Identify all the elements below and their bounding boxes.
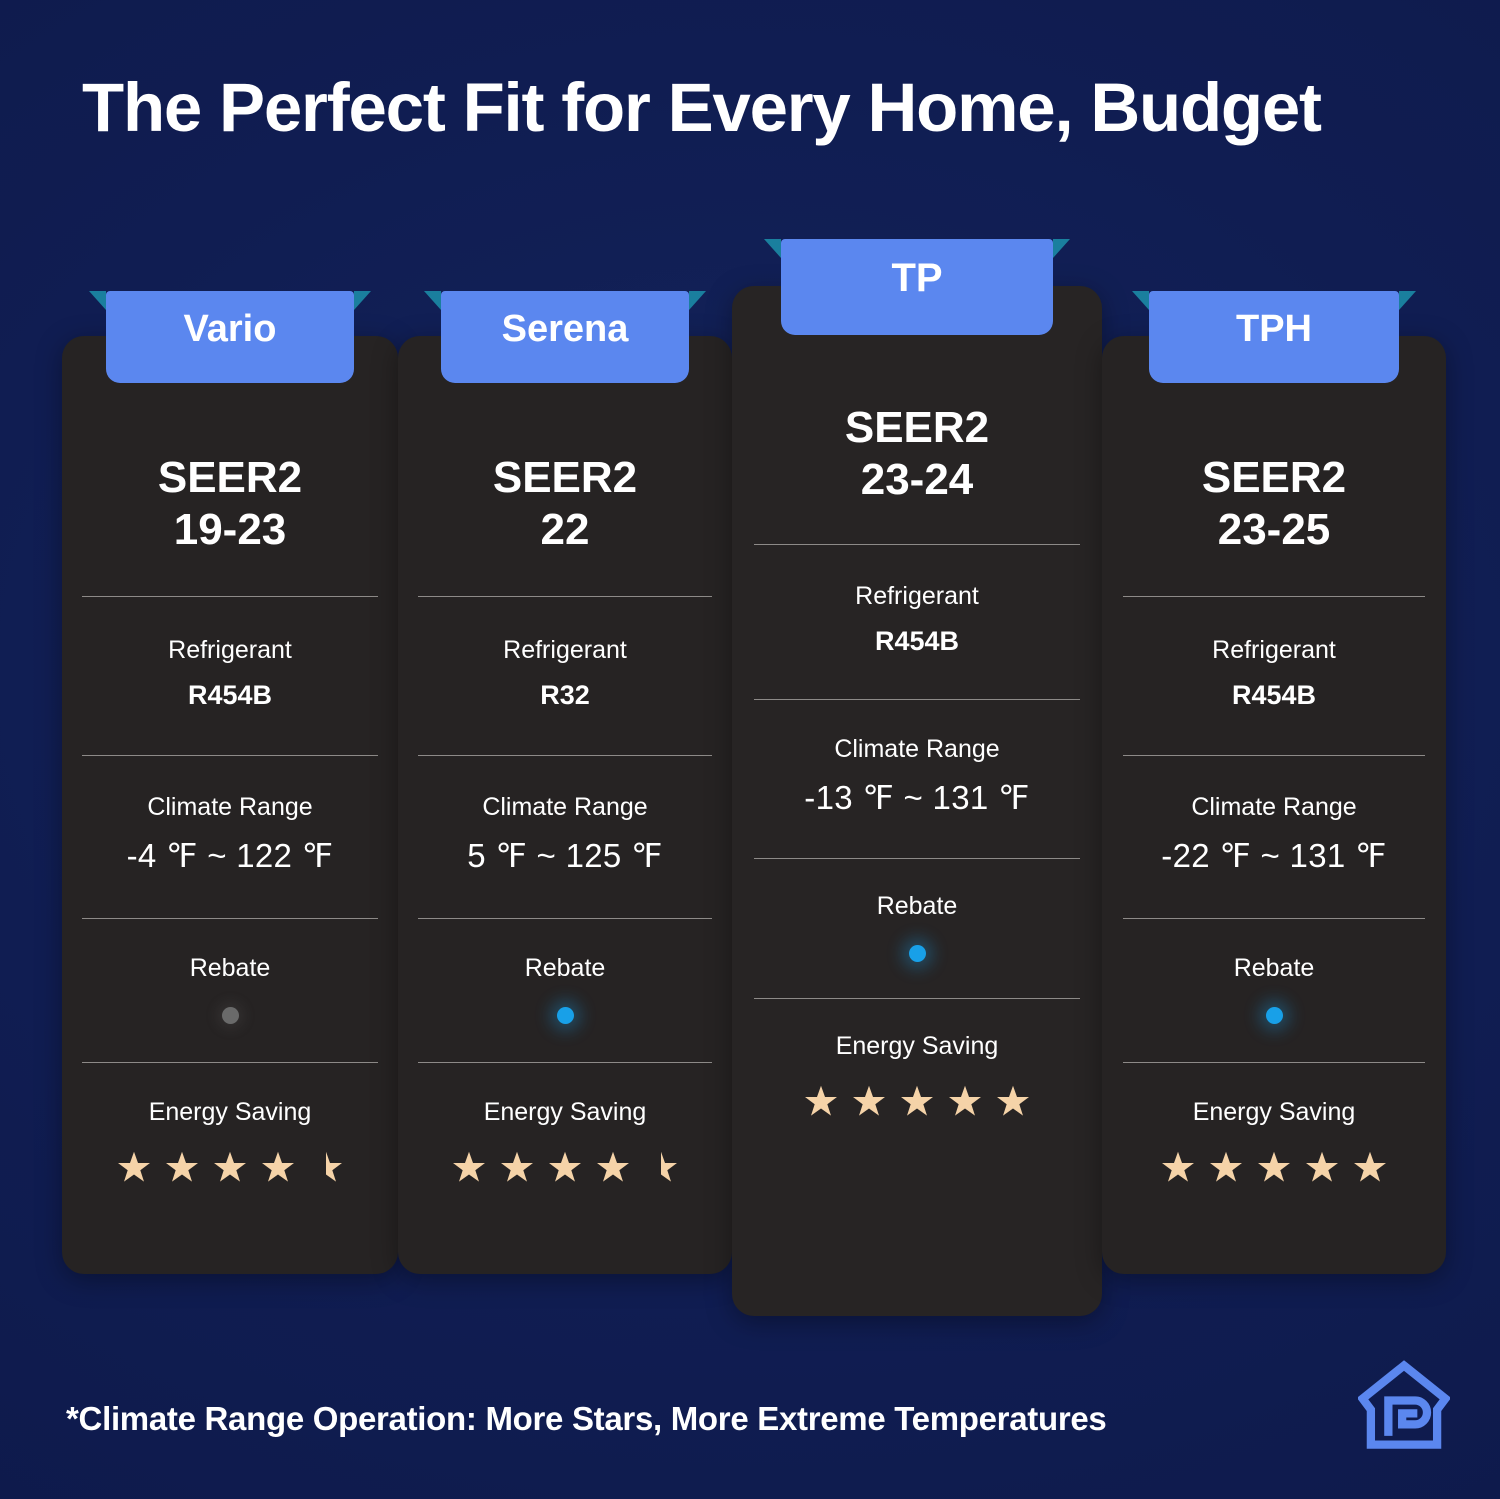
seer-value: 19-23 <box>62 504 398 556</box>
star-icon-full <box>165 1150 199 1184</box>
climate-range-value: -22 ℉ ~ 131 ℉ <box>1102 835 1446 878</box>
divider <box>754 858 1080 859</box>
divider <box>754 699 1080 700</box>
rebate-status-indicator <box>222 1007 239 1024</box>
divider <box>82 918 378 919</box>
climate-range-label: Climate Range <box>398 792 732 823</box>
refrigerant-row: RefrigerantR454B <box>62 635 398 713</box>
climate-range-label: Climate Range <box>732 734 1102 765</box>
rebate-status-indicator <box>1266 1007 1283 1024</box>
ribbon-fold-left-icon <box>1132 291 1149 310</box>
climate-range-value: 5 ℉ ~ 125 ℉ <box>398 835 732 878</box>
climate-range-row: Climate Range5 ℉ ~ 125 ℉ <box>398 792 732 878</box>
climate-range-value: -4 ℉ ~ 122 ℉ <box>62 835 398 878</box>
ribbon-fold-right-icon <box>354 291 371 310</box>
energy-saving-row: Energy Saving <box>62 1097 398 1184</box>
climate-range-label: Climate Range <box>1102 792 1446 823</box>
product-name-ribbon[interactable]: TP <box>781 239 1053 335</box>
star-icon-full <box>500 1150 534 1184</box>
climate-range-row: Climate Range-22 ℉ ~ 131 ℉ <box>1102 792 1446 878</box>
energy-saving-label: Energy Saving <box>732 1031 1102 1062</box>
energy-saving-rating <box>62 1150 398 1184</box>
climate-range-row: Climate Range-13 ℉ ~ 131 ℉ <box>732 734 1102 820</box>
star-icon-full <box>548 1150 582 1184</box>
ribbon-fold-left-icon <box>764 239 781 258</box>
star-icon-full <box>213 1150 247 1184</box>
divider <box>418 1062 712 1063</box>
house-logo-icon <box>1358 1360 1450 1452</box>
card-body: SEER222RefrigerantR32Climate Range5 ℉ ~ … <box>398 336 732 1274</box>
seer-label: SEER2 <box>398 452 732 504</box>
product-name-label: TPH <box>1149 291 1399 348</box>
card-body: SEER219-23RefrigerantR454BClimate Range-… <box>62 336 398 1274</box>
climate-range-row: Climate Range-4 ℉ ~ 122 ℉ <box>62 792 398 878</box>
star-icon-full <box>948 1084 982 1118</box>
rebate-label: Rebate <box>398 953 732 984</box>
ribbon-fold-left-icon <box>89 291 106 310</box>
star-icon-full <box>261 1150 295 1184</box>
rebate-row: Rebate <box>732 891 1102 961</box>
star-icon-full <box>117 1150 151 1184</box>
comparison-infographic: The Perfect Fit for Every Home, Budget S… <box>0 0 1500 1499</box>
refrigerant-value: R32 <box>398 678 732 713</box>
star-icon-full <box>900 1084 934 1118</box>
rebate-label: Rebate <box>732 891 1102 922</box>
divider <box>82 755 378 756</box>
climate-range-value: -13 ℉ ~ 131 ℉ <box>732 777 1102 820</box>
product-card[interactable]: SEER222RefrigerantR32Climate Range5 ℉ ~ … <box>398 336 732 1274</box>
product-name-label: Vario <box>106 291 354 348</box>
star-icon-full <box>1353 1150 1387 1184</box>
star-icon-half <box>309 1150 343 1184</box>
product-card[interactable]: SEER223-25RefrigerantR454BClimate Range-… <box>1102 336 1446 1274</box>
product-card-list: SEER219-23RefrigerantR454BClimate Range-… <box>0 0 1500 1499</box>
energy-saving-rating <box>732 1084 1102 1118</box>
divider <box>418 596 712 597</box>
divider <box>754 998 1080 999</box>
refrigerant-label: Refrigerant <box>62 635 398 666</box>
product-name-ribbon[interactable]: Serena <box>441 291 689 383</box>
card-body: SEER223-25RefrigerantR454BClimate Range-… <box>1102 336 1446 1274</box>
product-card[interactable]: SEER219-23RefrigerantR454BClimate Range-… <box>62 336 398 1274</box>
star-icon-full <box>996 1084 1030 1118</box>
star-icon-full <box>1209 1150 1243 1184</box>
divider <box>1123 1062 1426 1063</box>
product-name-ribbon[interactable]: Vario <box>106 291 354 383</box>
energy-saving-row: Energy Saving <box>398 1097 732 1184</box>
star-icon-full <box>804 1084 838 1118</box>
seer-value: 23-25 <box>1102 504 1446 556</box>
seer-block: SEER219-23 <box>62 452 398 556</box>
refrigerant-value: R454B <box>732 624 1102 659</box>
rebate-status-indicator <box>557 1007 574 1024</box>
refrigerant-label: Refrigerant <box>398 635 732 666</box>
product-name-ribbon[interactable]: TPH <box>1149 291 1399 383</box>
product-name-label: Serena <box>441 291 689 348</box>
rebate-row: Rebate <box>62 953 398 1023</box>
refrigerant-label: Refrigerant <box>732 581 1102 612</box>
seer-label: SEER2 <box>1102 452 1446 504</box>
divider <box>418 755 712 756</box>
energy-saving-row: Energy Saving <box>1102 1097 1446 1184</box>
seer-label: SEER2 <box>732 402 1102 454</box>
ribbon-fold-right-icon <box>689 291 706 310</box>
seer-block: SEER222 <box>398 452 732 556</box>
star-icon-full <box>1257 1150 1291 1184</box>
rebate-label: Rebate <box>1102 953 1446 984</box>
rebate-label: Rebate <box>62 953 398 984</box>
refrigerant-row: RefrigerantR454B <box>1102 635 1446 713</box>
seer-value: 22 <box>398 504 732 556</box>
star-icon-full <box>852 1084 886 1118</box>
divider <box>82 1062 378 1063</box>
star-icon-full <box>452 1150 486 1184</box>
energy-saving-rating <box>398 1150 732 1184</box>
divider <box>418 918 712 919</box>
seer-block: SEER223-25 <box>1102 452 1446 556</box>
divider <box>1123 596 1426 597</box>
product-name-label: TP <box>781 239 1053 298</box>
card-body: SEER223-24RefrigerantR454BClimate Range-… <box>732 286 1102 1316</box>
energy-saving-label: Energy Saving <box>398 1097 732 1128</box>
product-card[interactable]: SEER223-24RefrigerantR454BClimate Range-… <box>732 286 1102 1316</box>
footnote-climate-range: *Climate Range Operation: More Stars, Mo… <box>66 1400 1106 1438</box>
energy-saving-row: Energy Saving <box>732 1031 1102 1118</box>
divider <box>1123 755 1426 756</box>
ribbon-fold-right-icon <box>1053 239 1070 258</box>
rebate-status-indicator <box>909 945 926 962</box>
divider <box>754 544 1080 545</box>
energy-saving-label: Energy Saving <box>62 1097 398 1128</box>
seer-value: 23-24 <box>732 454 1102 506</box>
rebate-row: Rebate <box>398 953 732 1023</box>
refrigerant-value: R454B <box>62 678 398 713</box>
refrigerant-row: RefrigerantR454B <box>732 581 1102 659</box>
ribbon-fold-right-icon <box>1399 291 1416 310</box>
refrigerant-label: Refrigerant <box>1102 635 1446 666</box>
seer-block: SEER223-24 <box>732 402 1102 506</box>
star-icon-half <box>644 1150 678 1184</box>
star-icon-full <box>1305 1150 1339 1184</box>
rebate-row: Rebate <box>1102 953 1446 1023</box>
divider <box>82 596 378 597</box>
refrigerant-row: RefrigerantR32 <box>398 635 732 713</box>
refrigerant-value: R454B <box>1102 678 1446 713</box>
star-icon-full <box>596 1150 630 1184</box>
ribbon-fold-left-icon <box>424 291 441 310</box>
climate-range-label: Climate Range <box>62 792 398 823</box>
star-icon-full <box>1161 1150 1195 1184</box>
divider <box>1123 918 1426 919</box>
energy-saving-label: Energy Saving <box>1102 1097 1446 1128</box>
energy-saving-rating <box>1102 1150 1446 1184</box>
seer-label: SEER2 <box>62 452 398 504</box>
